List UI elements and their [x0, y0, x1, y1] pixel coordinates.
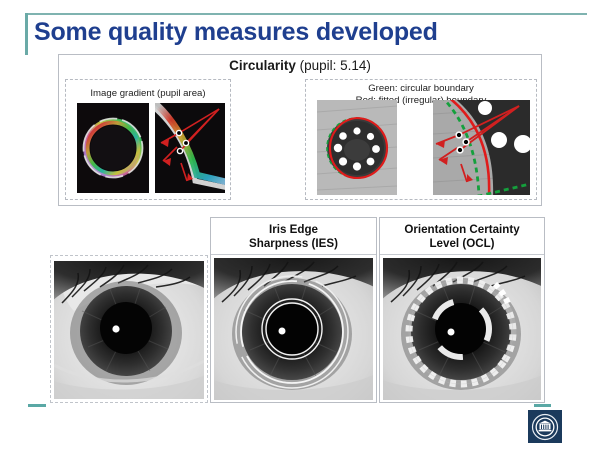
page-title: Some quality measures developed [34, 17, 438, 47]
eye-ies-overlay-image [214, 258, 373, 400]
image-gradient-caption: Image gradient (pupil area) [66, 88, 230, 100]
pupil-boundary-zoom-image [433, 100, 530, 195]
eye-ocl-overlay-image [383, 258, 541, 400]
metric-title-ies-line2: Sharpness (IES) [211, 237, 376, 251]
footer-accent-rule-left [28, 404, 46, 407]
pupil-gradient-ring-image [77, 103, 149, 193]
pupil-gradient-zoom-image [155, 103, 225, 193]
metric-title-ocl: Orientation Certainty Level (OCL) [380, 223, 544, 251]
title-top-rule [25, 13, 587, 15]
circularity-heading: Circularity (pupil: 5.14) [59, 58, 541, 73]
eye-original-grayscale-image [54, 261, 204, 399]
pupil-with-boundaries-image [317, 100, 397, 195]
circularity-heading-rest: (pupil: 5.14) [296, 58, 371, 73]
footer-accent-rule-right [534, 404, 551, 407]
metric-title-ies-line1: Iris Edge [211, 223, 376, 237]
metric-title-ocl-line1: Orientation Certainty [380, 223, 544, 237]
metric-title-ocl-line2: Level (OCL) [380, 237, 544, 251]
slide-canvas: Some quality measures developed Circular… [0, 0, 600, 450]
institution-seal-logo [528, 410, 562, 443]
metric-title-ies: Iris Edge Sharpness (IES) [211, 223, 376, 251]
title-accent-bar [25, 13, 28, 55]
circularity-heading-bold: Circularity [229, 58, 296, 73]
legend-green-line: Green: circular boundary [306, 83, 536, 95]
